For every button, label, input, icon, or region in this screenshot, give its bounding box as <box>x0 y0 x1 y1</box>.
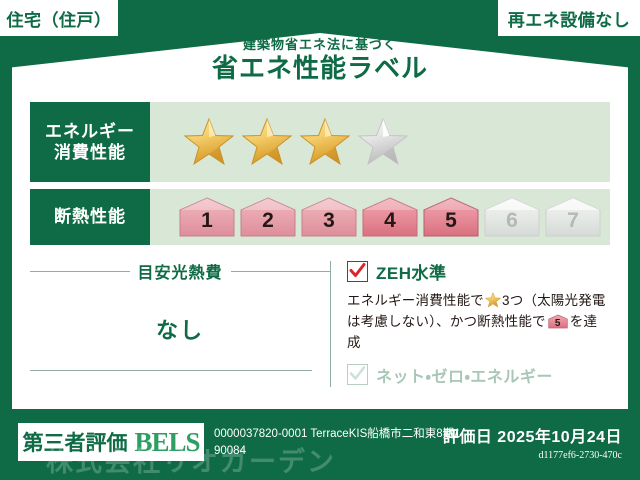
badge-renewable-energy: 再エネ設備なし <box>498 0 640 36</box>
zeh-heading: ZEH水準 <box>347 259 610 284</box>
house-icon-level-2: 2 <box>239 195 297 239</box>
zeh-checkbox-checked <box>347 261 368 282</box>
zeh-title: ZEH水準 <box>376 259 447 284</box>
lower-panels: 目安光熱費 なし ZEH水準 エネルギー消費性能で3つ（太 <box>30 255 610 395</box>
bels-badge: 第三者評価 BELS <box>18 423 204 461</box>
net-zero-checkbox-unchecked <box>347 364 368 385</box>
utility-cost-heading-label: 目安光熱費 <box>138 259 223 283</box>
insulation-performance-label-text: 断熱性能 <box>54 206 126 227</box>
zeh-panel: ZEH水準 エネルギー消費性能で3つ（太陽光発電 は考慮しない）、かつ断熱性能で… <box>347 255 610 395</box>
bels-badge-en-label: BELS <box>134 427 199 458</box>
utility-cost-heading: 目安光熱費 <box>30 259 330 283</box>
net-zero-label: ネット・ゼロ・エネルギー <box>376 363 553 387</box>
insulation-level-scale: 1 2 3 <box>150 189 610 245</box>
zeh-description-part2: は考慮しない）、かつ断熱性能で <box>347 314 546 329</box>
house-icon-level-7: 7 <box>544 195 602 239</box>
label-card: エネルギー 消費性能 <box>12 97 628 409</box>
energy-label-root: 住宅（住戸） 再エネ設備なし 建築物省エネ法に基づく 省エネ性能ラベル エネルギ… <box>0 0 640 480</box>
zeh-description-part1: エネルギー消費性能で <box>347 293 484 308</box>
insulation-level-value: 5 <box>445 210 457 239</box>
utility-cost-bottom-rule <box>30 370 312 371</box>
insulation-level-value: 7 <box>567 210 579 239</box>
house-icon-level-3: 3 <box>300 195 358 239</box>
insulation-level-value: 4 <box>384 210 396 239</box>
house-icon-level-6: 6 <box>483 195 541 239</box>
roof-shape <box>12 33 628 99</box>
rule-left <box>30 271 130 272</box>
net-zero-energy-row: ネット・ゼロ・エネルギー <box>347 363 610 387</box>
insulation-performance-label: 断熱性能 <box>30 189 150 245</box>
panel-divider <box>330 261 331 387</box>
badge-renewable-energy-label: 再エネ設備なし <box>508 6 631 31</box>
insulation-level-value: 1 <box>201 210 213 239</box>
zeh-description-level: 5 <box>548 319 568 329</box>
evaluation-info: 評価日 2025年10月24日 d1177ef6-2730-470c <box>443 423 622 461</box>
house-icon-level-4: 4 <box>361 195 419 239</box>
rule-right <box>231 271 331 272</box>
evaluation-hash: d1177ef6-2730-470c <box>443 450 622 461</box>
star-icon <box>184 117 234 167</box>
badge-building-type: 住宅（住戸） <box>0 0 118 36</box>
house-icon-level-1: 1 <box>178 195 236 239</box>
energy-star-rating <box>150 102 610 182</box>
star-icon-empty <box>358 117 408 167</box>
energy-performance-label-line1: エネルギー <box>45 121 135 142</box>
house-icon-inline: 5 <box>548 313 568 330</box>
badge-building-type-label: 住宅（住戸） <box>7 6 112 31</box>
utility-cost-value: なし <box>30 313 330 345</box>
house-icon-level-5: 5 <box>422 195 480 239</box>
insulation-level-value: 3 <box>323 210 335 239</box>
insulation-performance-row: 断熱性能 <box>30 189 610 245</box>
star-icon <box>242 117 292 167</box>
utility-cost-panel: 目安光熱費 なし <box>30 255 330 395</box>
zeh-description: エネルギー消費性能で3つ（太陽光発電 は考慮しない）、かつ断熱性能で5を達成 <box>347 291 610 354</box>
energy-performance-row: エネルギー 消費性能 <box>30 102 610 182</box>
energy-performance-label-line2: 消費性能 <box>54 142 126 163</box>
check-icon-faded <box>349 365 366 382</box>
check-icon <box>349 262 366 279</box>
property-identifier: 0000037820-0001 TerraceKIS船橋市二和東8期1 9008… <box>214 426 464 461</box>
star-icon <box>300 117 350 167</box>
label-footer: 第三者評価 BELS 0000037820-0001 TerraceKIS船橋市… <box>0 409 640 480</box>
evaluation-date-value: 2025年10月24日 <box>497 429 622 446</box>
evaluation-date-label: 評価日 <box>443 429 493 446</box>
bels-badge-jp-label: 第三者評価 <box>22 427 127 457</box>
insulation-level-value: 6 <box>506 210 518 239</box>
evaluation-date: 評価日 2025年10月24日 <box>443 423 622 447</box>
property-identifier-line1: 0000037820-0001 TerraceKIS船橋市二和東8期1 <box>214 426 464 443</box>
property-identifier-line2: 90084 <box>214 443 464 460</box>
insulation-level-value: 2 <box>262 210 274 239</box>
zeh-description-stars: 3つ（太陽光発電 <box>502 293 606 308</box>
energy-performance-label: エネルギー 消費性能 <box>30 102 150 182</box>
star-icon-inline <box>485 292 501 308</box>
